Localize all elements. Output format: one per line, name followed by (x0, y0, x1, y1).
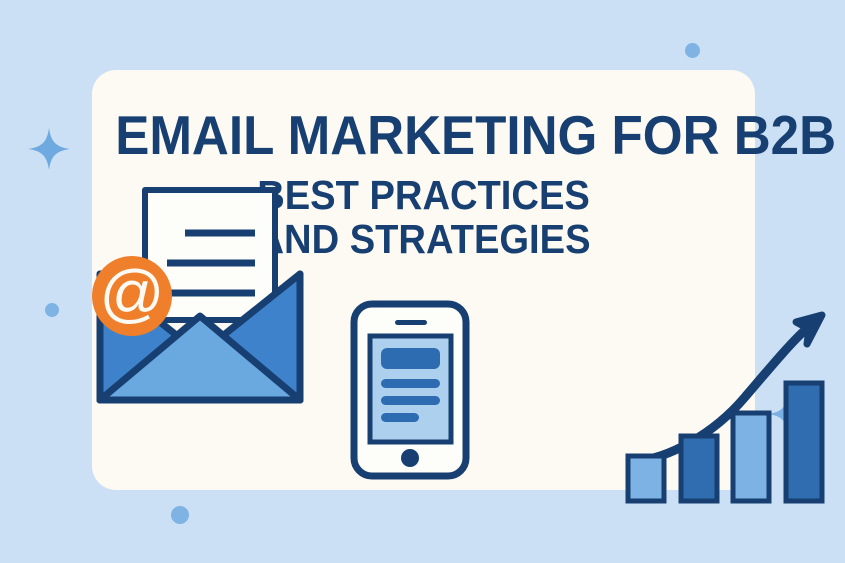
screen-text-bar (381, 413, 419, 422)
at-symbol-glyph: @ (100, 257, 165, 329)
phone-speaker (395, 320, 427, 325)
phone-home-button (401, 449, 419, 467)
screen-text-bar (381, 379, 440, 388)
chart-bar (733, 413, 769, 501)
dot-bottom-left-icon (171, 506, 189, 524)
chart-bar (681, 436, 717, 501)
screen-text-bar (381, 396, 440, 405)
page-title: EMAIL MARKETING FOR B2B (115, 106, 732, 164)
chart-bar (628, 456, 664, 501)
sparkle-top-left-icon (28, 128, 70, 170)
poster-card: EMAIL MARKETING FOR B2B BEST PRACTICES A… (92, 70, 755, 490)
dot-top-right-icon (685, 43, 700, 58)
envelope-illustration: @ (90, 178, 320, 418)
poster-canvas: EMAIL MARKETING FOR B2B BEST PRACTICES A… (0, 0, 845, 563)
phone-illustration (350, 300, 470, 485)
dot-mid-left-icon (45, 303, 59, 317)
chart-bar (786, 383, 822, 501)
growth-chart-illustration (517, 245, 837, 520)
at-symbol-badge: @ (92, 256, 172, 336)
screen-header-block (381, 348, 440, 369)
